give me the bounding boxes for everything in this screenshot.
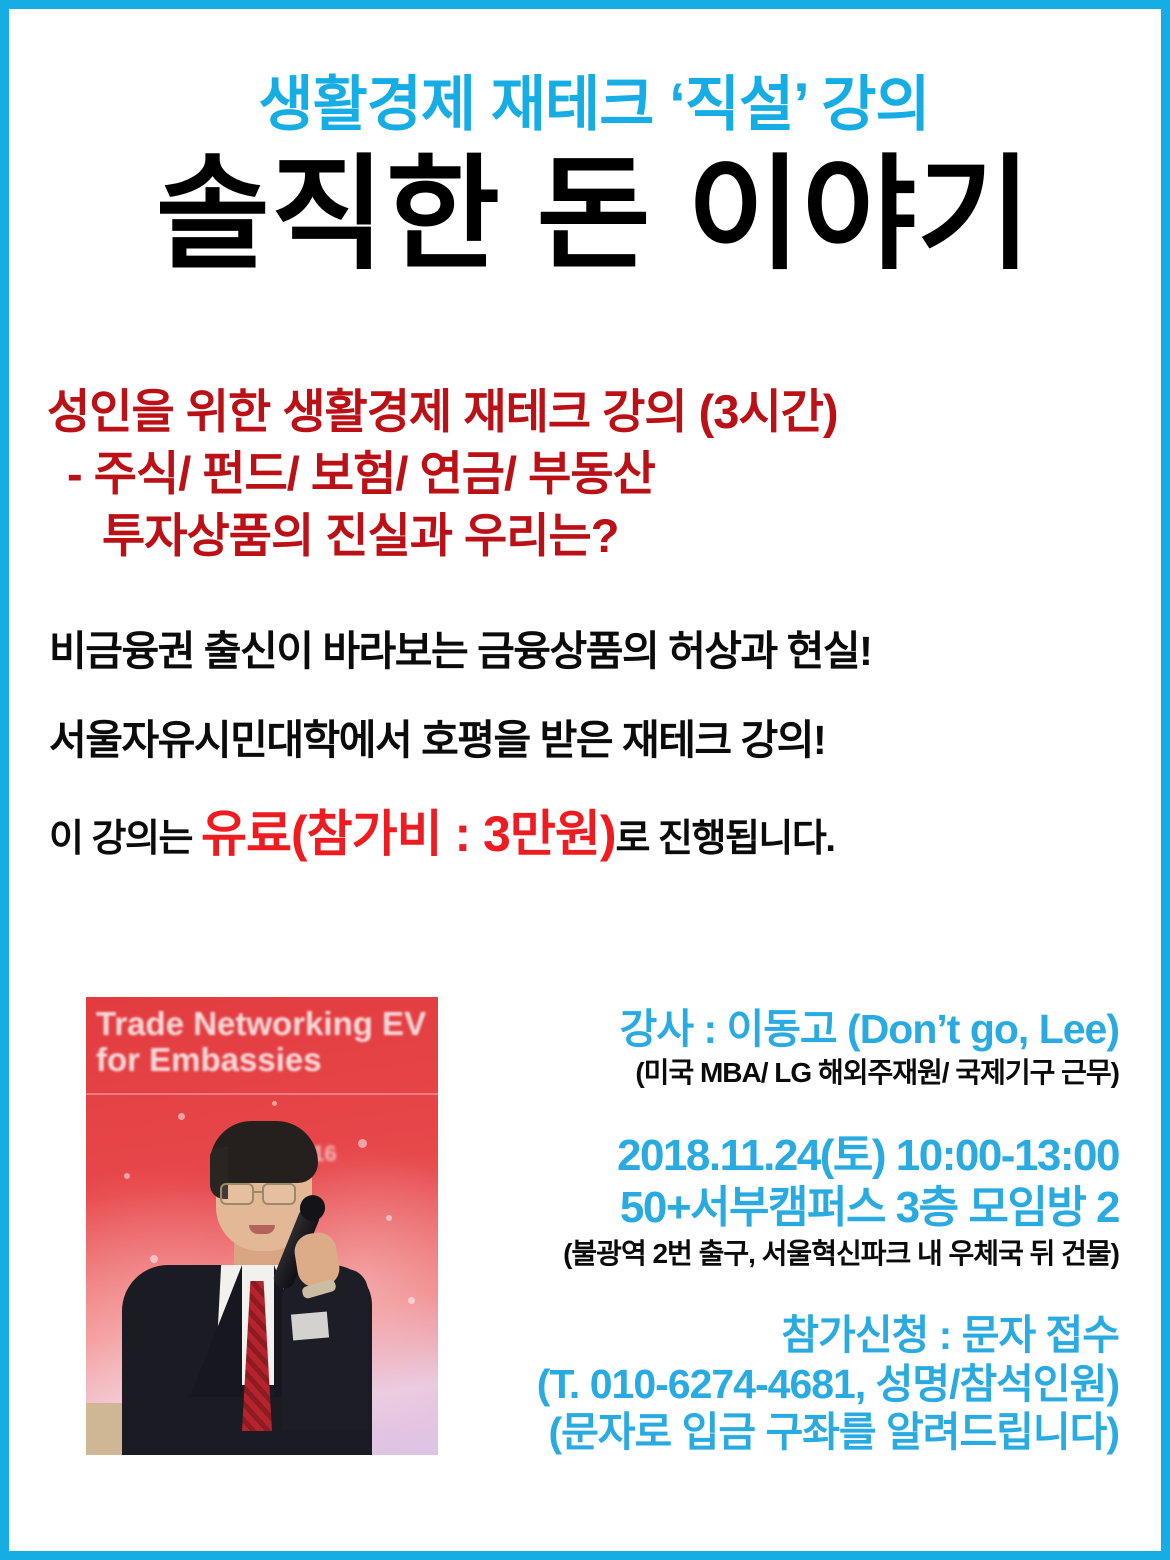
fee-suffix: 로 진행됩니다. [616, 818, 835, 860]
eyeglass-right-lens [262, 1183, 296, 1205]
schedule-info-group: 2018.11.24(토) 10:00-13:00 50+서부캠퍼스 3층 모임… [489, 1130, 1119, 1271]
event-venue: 50+서부캠퍼스 3층 모임방 2 [489, 1182, 1119, 1234]
registration-note: (문자로 입금 구좌를 알려드립니다) [489, 1408, 1119, 1456]
speaker-name: 강사 : 이동고 (Don’t go, Lee) [489, 1005, 1119, 1053]
subheading-line-1: 성인을 위한 생활경제 재테크 강의 (3시간) [47, 381, 1107, 443]
body-line-2: 서울자유시민대학에서 호평을 받은 재테크 강의! [49, 720, 1119, 761]
speaker-name-badge [291, 1311, 329, 1340]
poster-root: 생활경제 재테크 ‘직설’ 강의 솔직한 돈 이야기 성인을 위한 생활경제 재… [0, 0, 1170, 1560]
subheading-block: 성인을 위한 생활경제 재테크 강의 (3시간) - 주식/ 펀드/ 보험/ 연… [47, 381, 1107, 567]
poster-title: 솔직한 돈 이야기 [9, 144, 1170, 288]
poster-kicker: 생활경제 재테크 ‘직설’ 강의 [9, 71, 1170, 138]
event-venue-directions: (불광역 2번 출구, 서울혁신파크 내 우체국 뒤 건물) [489, 1236, 1119, 1271]
fee-line: 이 강의는 유료(참가비 : 3만원)로 진행됩니다. [49, 809, 1119, 859]
header-block: 생활경제 재테크 ‘직설’ 강의 솔직한 돈 이야기 [9, 71, 1170, 288]
speaker-info-group: 강사 : 이동고 (Don’t go, Lee) (미국 MBA/ LG 해외주… [489, 1005, 1119, 1090]
subheading-line-3: 투자상품의 진실과 우리는? [47, 505, 1107, 567]
registration-contact[interactable]: (T. 010-6274-4681, 성명/참석인원) [489, 1360, 1119, 1408]
eyeglass-left-lens [220, 1183, 254, 1205]
speaker-credentials: (미국 MBA/ LG 해외주재원/ 국제기구 근무) [489, 1055, 1119, 1090]
registration-info-group: 참가신청 : 문자 접수 (T. 010-6274-4681, 성명/참석인원)… [489, 1311, 1119, 1456]
eyeglass-bridge [254, 1191, 262, 1193]
body-block: 비금융권 출신이 바라보는 금융상품의 허상과 현실! 서울자유시민대학에서 호… [49, 631, 1119, 859]
event-datetime: 2018.11.24(토) 10:00-13:00 [489, 1130, 1119, 1182]
speaker-photo: Trade Networking EV for Embassies 15, 20… [86, 997, 438, 1455]
fee-prefix: 이 강의는 [49, 818, 201, 860]
subheading-line-2: - 주식/ 펀드/ 보험/ 연금/ 부동산 [47, 443, 1107, 505]
speaker-figure [86, 997, 438, 1455]
body-line-1: 비금융권 출신이 바라보는 금융상품의 허상과 현실! [49, 631, 1119, 672]
registration-method: 참가신청 : 문자 접수 [489, 1311, 1119, 1359]
fee-emphasis: 유료(참가비 : 3만원) [201, 806, 616, 862]
event-info-column: 강사 : 이동고 (Don’t go, Lee) (미국 MBA/ LG 해외주… [489, 1005, 1119, 1456]
